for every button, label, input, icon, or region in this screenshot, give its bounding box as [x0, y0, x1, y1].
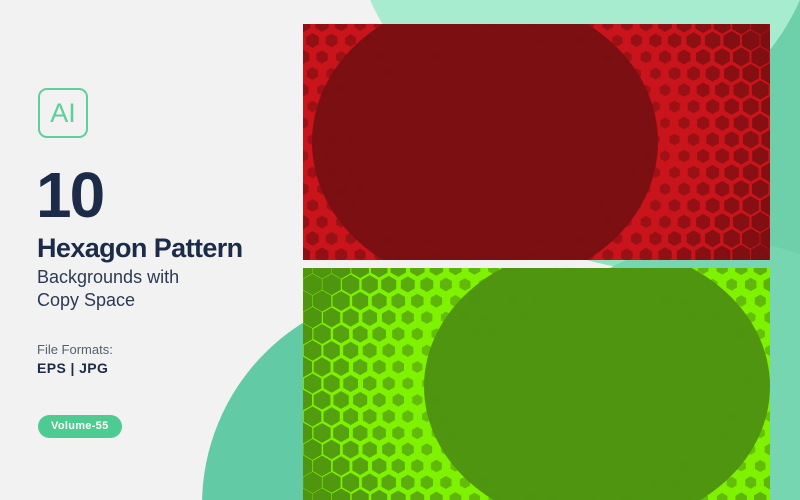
ai-format-badge: AI — [38, 88, 88, 138]
poster-canvas: AI 10 Hexagon Pattern Backgrounds with C… — [0, 0, 800, 500]
preview-green-hexagon-background[interactable] — [303, 268, 770, 500]
page-subtitle-line-1: Backgrounds with — [37, 266, 179, 289]
preview-red-hexagon-background[interactable] — [303, 24, 770, 260]
file-formats-value: EPS | JPG — [37, 360, 108, 376]
page-subtitle-line-2: Copy Space — [37, 289, 179, 312]
red-hexagon-halftone-layer — [303, 24, 770, 260]
info-panel: AI 10 Hexagon Pattern Backgrounds with C… — [0, 0, 300, 500]
page-subtitle: Backgrounds with Copy Space — [37, 266, 179, 312]
green-hexagon-halftone-layer — [303, 268, 770, 500]
ai-badge-label: AI — [50, 100, 76, 127]
item-count: 10 — [36, 163, 103, 227]
volume-badge: Volume-55 — [38, 415, 122, 438]
file-formats-label: File Formats: — [37, 342, 113, 357]
page-title: Hexagon Pattern — [37, 234, 243, 262]
